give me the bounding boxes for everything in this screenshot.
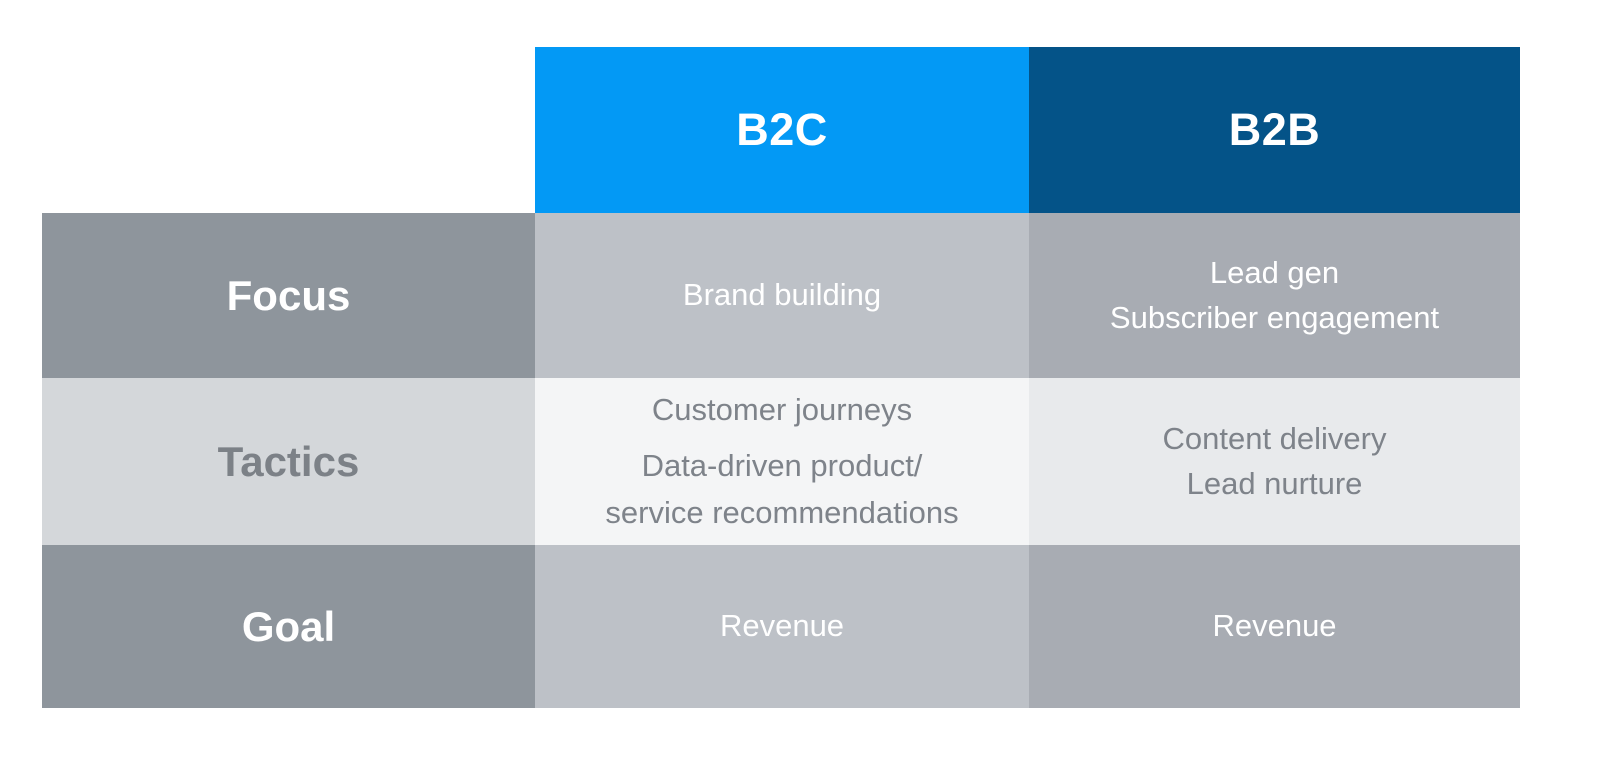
column-header-b2b: B2B bbox=[1029, 47, 1520, 213]
cell-focus-b2c: Brand building bbox=[535, 213, 1029, 378]
cell-goal-b2c: Revenue bbox=[535, 545, 1029, 708]
cell-tactics-b2b-line-1: Content delivery bbox=[1162, 417, 1386, 461]
cell-focus-b2b-line-2: Subscriber engagement bbox=[1110, 296, 1439, 340]
column-header-b2c: B2C bbox=[535, 47, 1029, 213]
row-label-tactics: Tactics bbox=[42, 378, 535, 545]
column-header-b2b-label: B2B bbox=[1229, 104, 1321, 156]
column-header-b2c-label: B2C bbox=[736, 104, 828, 156]
row-label-tactics-text: Tactics bbox=[218, 438, 360, 486]
cell-focus-b2c-line-1: Brand building bbox=[683, 273, 881, 317]
cell-goal-b2b: Revenue bbox=[1029, 545, 1520, 708]
cell-tactics-b2b-line-2: Lead nurture bbox=[1187, 462, 1363, 506]
table-corner-cell bbox=[42, 47, 535, 213]
cell-tactics-b2c: Customer journeys Data-driven product/ s… bbox=[535, 378, 1029, 545]
row-label-focus-text: Focus bbox=[227, 272, 351, 320]
cell-goal-b2b-line-1: Revenue bbox=[1212, 604, 1336, 648]
row-label-goal-text: Goal bbox=[242, 603, 335, 651]
cell-tactics-b2c-line-2: Data-driven product/ bbox=[642, 444, 923, 488]
slide-canvas: B2C B2B Focus Brand building Lead gen Su… bbox=[0, 0, 1600, 784]
cell-focus-b2b-line-1: Lead gen bbox=[1210, 251, 1339, 295]
cell-focus-b2b: Lead gen Subscriber engagement bbox=[1029, 213, 1520, 378]
cell-goal-b2c-line-1: Revenue bbox=[720, 604, 844, 648]
row-label-focus: Focus bbox=[42, 213, 535, 378]
cell-tactics-b2c-line-3: service recommendations bbox=[605, 491, 958, 535]
row-label-goal: Goal bbox=[42, 545, 535, 708]
cell-tactics-b2c-line-1: Customer journeys bbox=[652, 388, 912, 432]
comparison-table: B2C B2B Focus Brand building Lead gen Su… bbox=[42, 47, 1520, 708]
cell-tactics-b2b: Content delivery Lead nurture bbox=[1029, 378, 1520, 545]
